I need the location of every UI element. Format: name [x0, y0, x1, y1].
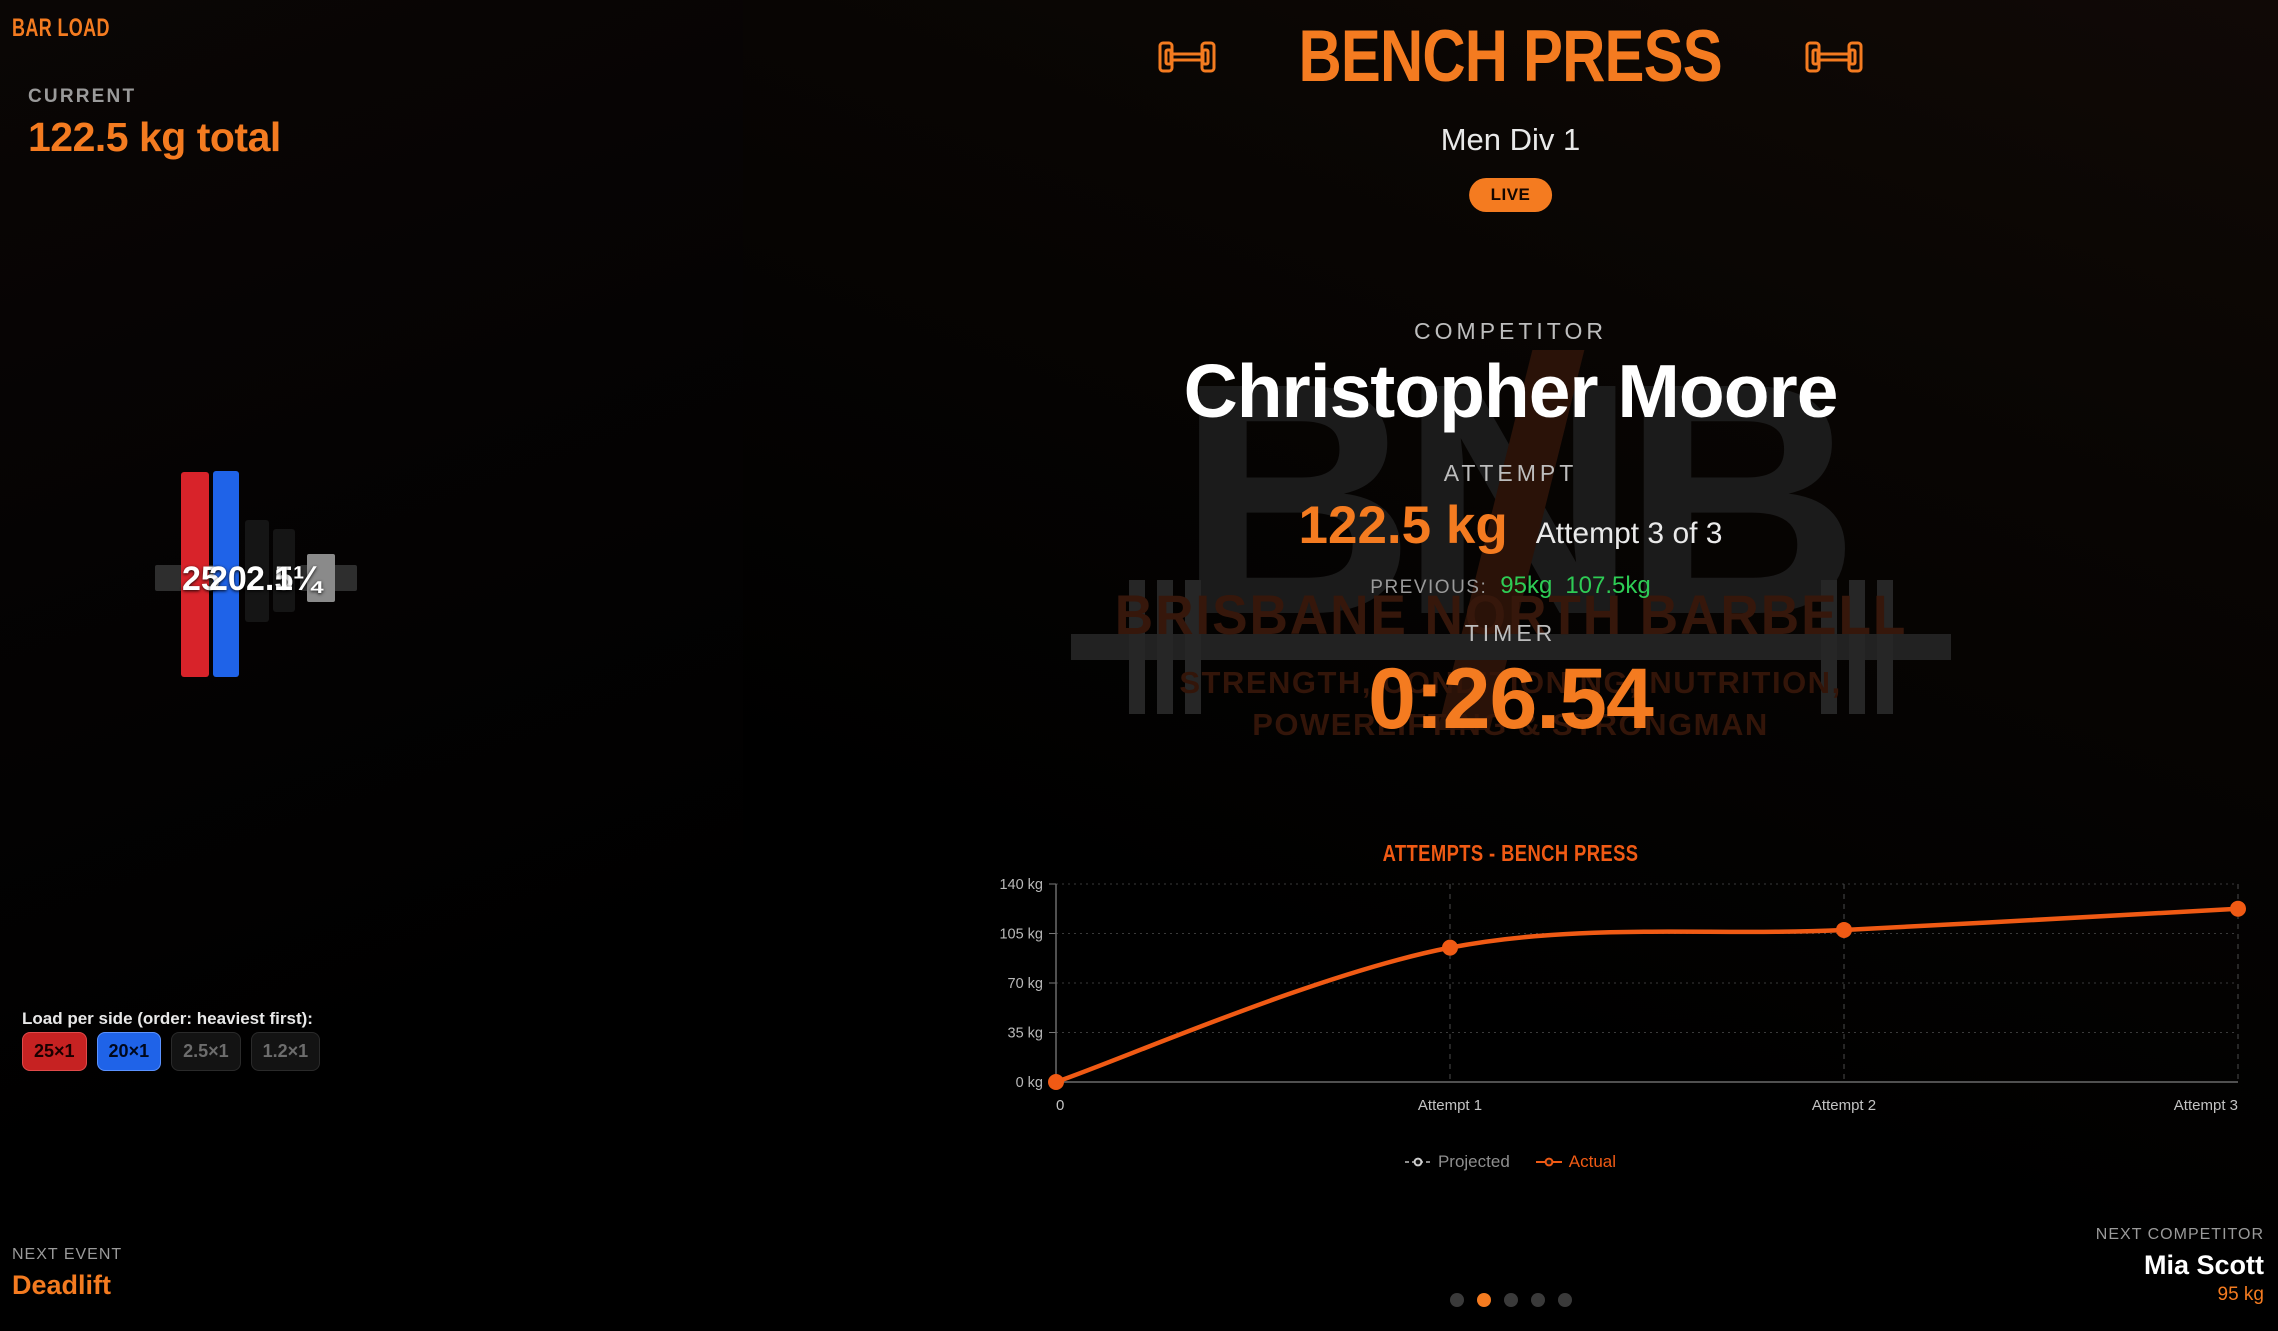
chart-series-actual	[1056, 909, 2238, 1082]
previous-attempt-1: 95kg	[1500, 572, 1552, 600]
chart-ytick-label: 70 kg	[1008, 976, 1043, 992]
attempt-label: ATTEMPT	[743, 460, 2278, 487]
load-chip-1-2[interactable]: 1.2×1	[251, 1032, 321, 1071]
load-chip-2-5[interactable]: 2.5×1	[171, 1032, 241, 1071]
chart-xtick-label: Attempt 1	[1418, 1097, 1482, 1114]
division-label: Men Div 1	[743, 122, 2278, 158]
next-competitor-name: Mia Scott	[2144, 1250, 2264, 1281]
barbell-visualization: 25 20 2.5 1¼	[0, 0, 743, 1331]
legend-label-actual: Actual	[1569, 1152, 1616, 1172]
dumbbell-icon	[1803, 32, 1865, 82]
timer-label: TIMER	[743, 620, 2278, 647]
dumbbell-icon	[1156, 32, 1218, 82]
attempt-summary: 122.5 kg Attempt 3 of 3	[743, 495, 2278, 556]
attempt-weight: 122.5 kg	[1299, 495, 1508, 556]
plate-label-20: 20	[209, 562, 247, 596]
chart-xtick-label: 0	[1056, 1097, 1064, 1114]
attempt-counter: Attempt 3 of 3	[1536, 517, 1723, 551]
pagination-dots[interactable]	[1450, 1293, 1572, 1307]
attempts-chart-svg: 0 kg35 kg70 kg105 kg140 kg0Attempt 1Atte…	[938, 870, 2248, 1150]
next-competitor-weight: 95 kg	[2218, 1284, 2264, 1306]
legend-label-projected: Projected	[1438, 1152, 1510, 1172]
competitor-name: Christopher Moore	[743, 348, 2278, 434]
next-event-label: NEXT EVENT	[12, 1246, 122, 1264]
legend-item-projected: Projected	[1405, 1152, 1510, 1172]
legend-marker-projected	[1405, 1157, 1431, 1167]
load-chip-20[interactable]: 20×1	[97, 1032, 162, 1071]
previous-attempts-label: PREVIOUS:	[1370, 577, 1487, 599]
chart-ytick-label: 105 kg	[999, 927, 1043, 943]
pagination-dot[interactable]	[1558, 1293, 1572, 1307]
next-competitor-label: NEXT COMPETITOR	[2096, 1226, 2264, 1244]
event-header: BENCH PRESS	[743, 20, 2278, 93]
legend-item-actual: Actual	[1536, 1152, 1616, 1172]
load-per-side-caption: Load per side (order: heaviest first):	[22, 1009, 313, 1029]
attempts-chart-title: ATTEMPTS - BENCH PRESS	[897, 840, 2125, 867]
load-chip-list: 25×1 20×1 2.5×1 1.2×1	[22, 1032, 320, 1071]
chart-series-projected	[1056, 909, 2238, 1082]
pagination-dot[interactable]	[1504, 1293, 1518, 1307]
timer-value: 0:26.54	[743, 650, 2278, 749]
pagination-dot[interactable]	[1450, 1293, 1464, 1307]
pagination-dot[interactable]	[1531, 1293, 1545, 1307]
next-event-value: Deadlift	[12, 1270, 111, 1301]
chart-ytick-label: 140 kg	[999, 877, 1043, 893]
chart-legend: Projected Actual	[743, 1152, 2278, 1172]
load-chip-25[interactable]: 25×1	[22, 1032, 87, 1071]
chart-ytick-label: 0 kg	[1016, 1075, 1043, 1091]
main-display-panel: BNB BRISBANE NORTH BARBELL STRENGTH, CON…	[743, 0, 2278, 1331]
event-title: BENCH PRESS	[1299, 20, 1722, 93]
plate-label-1-25: 1¼	[274, 562, 321, 596]
attempts-chart: 0 kg35 kg70 kg105 kg140 kg0Attempt 1Atte…	[938, 870, 2248, 1150]
scoreboard-screen: BAR LOAD CURRENT 122.5 kg total 25 20 2.…	[0, 0, 2278, 1331]
chart-data-point	[1442, 940, 1458, 956]
live-status-badge: LIVE	[1469, 178, 1553, 212]
chart-xtick-label: Attempt 3	[2174, 1097, 2238, 1114]
chart-xtick-label: Attempt 2	[1812, 1097, 1876, 1114]
bar-load-panel: BAR LOAD CURRENT 122.5 kg total 25 20 2.…	[0, 0, 743, 1331]
chart-data-point	[1048, 1074, 1064, 1090]
competitor-label: COMPETITOR	[743, 318, 2278, 345]
previous-attempts: PREVIOUS: 95kg 107.5kg	[743, 572, 2278, 600]
previous-attempt-2: 107.5kg	[1565, 572, 1650, 600]
chart-data-point	[1836, 922, 1852, 938]
legend-marker-actual	[1536, 1157, 1562, 1167]
pagination-dot[interactable]	[1477, 1293, 1491, 1307]
chart-ytick-label: 35 kg	[1008, 1026, 1043, 1042]
chart-data-point	[2230, 901, 2246, 917]
